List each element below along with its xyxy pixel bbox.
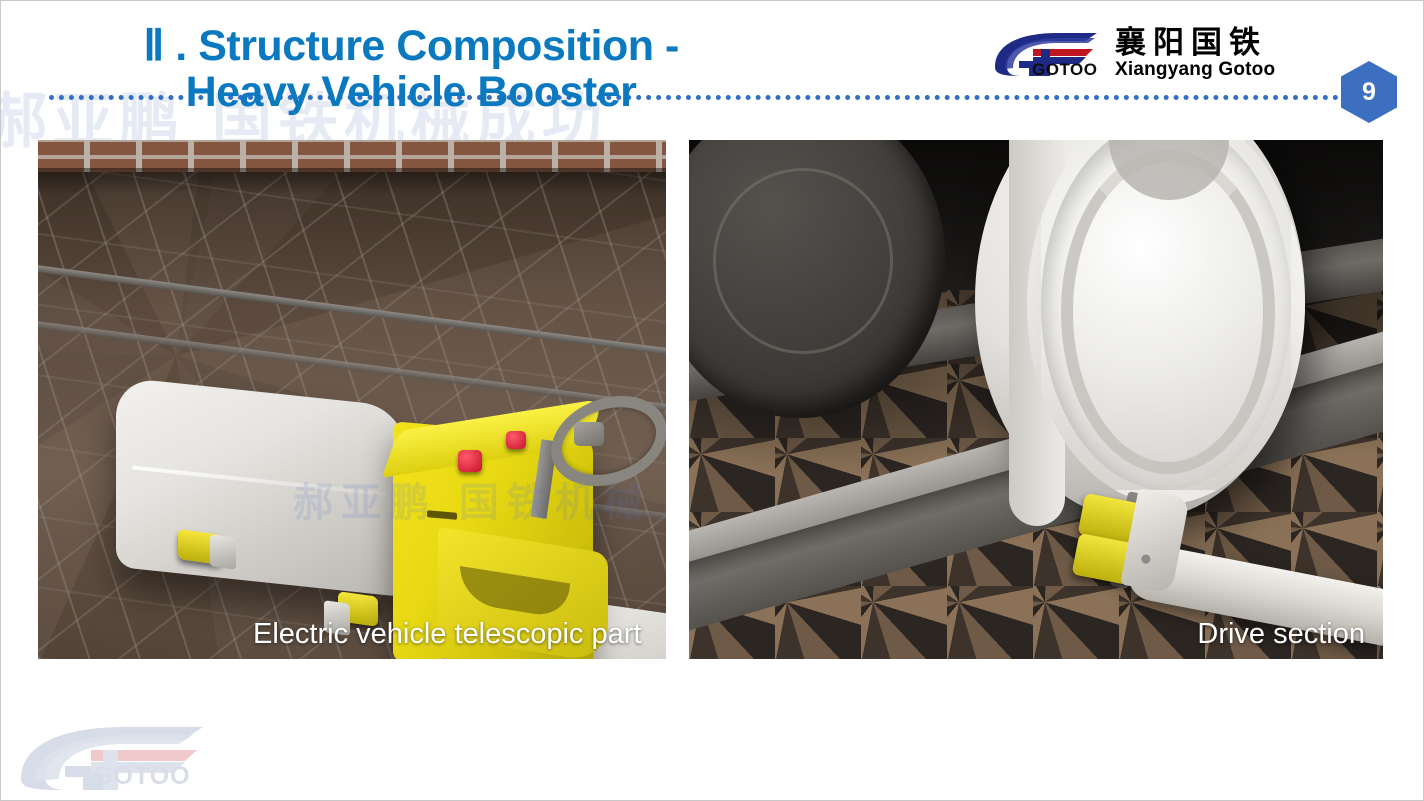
vehicle-white-body	[116, 377, 406, 597]
wall-shadow	[38, 168, 666, 194]
page-number-badge: 9	[1341, 61, 1397, 123]
gotoo-wordmark: GOTOO	[1032, 60, 1097, 80]
hexagon-shape: 9	[1341, 61, 1397, 123]
steering-hub	[574, 422, 604, 446]
red-button-primary	[458, 450, 482, 472]
picture-electric-vehicle-telescopic-part: 郝亚鹏 国铁机械 Electric vehicle telescopic par…	[38, 140, 666, 659]
footer-gotoo-logo-icon: GOTOO	[7, 717, 227, 797]
footer-gotoo-wordmark: GOTOO	[93, 762, 191, 791]
brand-pinyin-name: Xiangyang Gotoo	[1115, 60, 1275, 81]
page-number-label: 9	[1362, 78, 1376, 107]
right-image-scene: 郝亚鹏 国铁机械	[689, 140, 1383, 659]
red-button-secondary	[506, 431, 526, 449]
brand-names: 襄阳国铁 Xiangyang Gotoo	[1115, 27, 1275, 81]
picture-drive-section: 郝亚鹏 国铁机械 Drive section	[689, 140, 1383, 659]
page-title-line-2: Heavy Vehicle Booster	[61, 71, 761, 115]
roller-bracket-front	[210, 534, 236, 570]
picture-caption-left: Electric vehicle telescopic part	[253, 618, 641, 651]
page-title: Ⅱ . Structure Composition - Heavy Vehicl…	[61, 25, 761, 115]
presentation-slide: 郝亚鹏 国铁机械成功 Ⅱ . Structure Composition - H…	[0, 0, 1424, 801]
left-image-scene: 郝亚鹏 国铁机械	[38, 140, 666, 659]
page-title-line-1: Ⅱ . Structure Composition -	[61, 25, 761, 69]
gotoo-logo-icon: GOTOO	[985, 27, 1105, 81]
company-logo: GOTOO 襄阳国铁 Xiangyang Gotoo	[979, 21, 1281, 87]
brand-chinese-name: 襄阳国铁	[1115, 27, 1275, 60]
picture-caption-right: Drive section	[1197, 618, 1365, 651]
